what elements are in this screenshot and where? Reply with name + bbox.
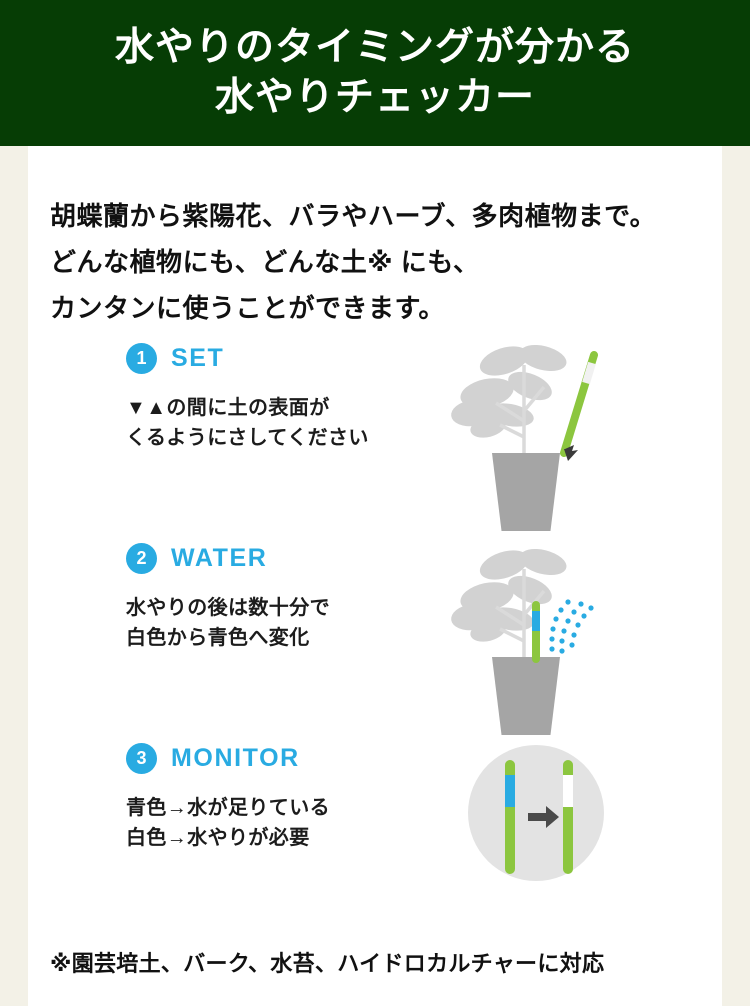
header-banner: 水やりのタイミングが分かる 水やりチェッカー <box>0 0 750 146</box>
plant-leaves-icon <box>449 341 569 441</box>
header-title-line-1: 水やりのタイミングが分かる <box>115 23 635 73</box>
step-2-desc-line-1: 水やりの後は数十分で <box>126 593 426 623</box>
step-2-number-badge: 2 <box>126 543 157 574</box>
step-2-heading: 2 WATER <box>126 541 426 575</box>
step-1-heading: 1 SET <box>126 341 426 375</box>
content-card: 胡蝶蘭から紫陽花、バラやハーブ、多肉植物まで。 どんな植物にも、どんな土※ にも… <box>28 146 722 1006</box>
step-3-number-badge: 3 <box>126 743 157 774</box>
header-title-line-2: 水やりチェッカー <box>215 73 535 123</box>
step-item-set: 1 SET ▼▲の間に土の表面が くるようにさしてください <box>28 341 722 541</box>
steps-list: 1 SET ▼▲の間に土の表面が くるようにさしてください <box>28 341 722 941</box>
step-2-label: WATER <box>171 544 267 573</box>
step-3-label: MONITOR <box>171 744 300 773</box>
step-1-desc-line-1: ▼▲の間に土の表面が <box>126 393 426 423</box>
step-item-water: 2 WATER 水やりの後は数十分で 白色から青色へ変化 <box>28 541 722 741</box>
step-2-desc-line-2: 白色から青色へ変化 <box>126 623 426 653</box>
footnote-text: ※園芸培土、バーク、水苔、ハイドロカルチャーに対応 <box>50 946 604 978</box>
watering-spray-icon <box>549 599 593 653</box>
flower-pot-icon <box>492 453 560 531</box>
step-3-desc-line-2: 白色→水やりが必要 <box>126 823 426 853</box>
step-3-illustration <box>448 741 628 941</box>
step-1-text: 1 SET ▼▲の間に土の表面が くるようにさしてください <box>126 341 426 453</box>
step-2-text: 2 WATER 水やりの後は数十分で 白色から青色へ変化 <box>126 541 426 653</box>
step-2-illustration <box>448 541 628 741</box>
step-1-desc-line-2: くるようにさしてください <box>126 423 426 453</box>
step-1-number-badge: 1 <box>126 343 157 374</box>
flower-pot-icon <box>492 657 560 735</box>
step-1-illustration <box>448 341 628 541</box>
step-3-heading: 3 MONITOR <box>126 741 426 775</box>
intro-paragraph: 胡蝶蘭から紫陽花、バラやハーブ、多肉植物まで。 どんな植物にも、どんな土※ にも… <box>50 193 710 331</box>
water-checker-stick-icon <box>564 355 594 453</box>
intro-line-1: 胡蝶蘭から紫陽花、バラやハーブ、多肉植物まで。 <box>50 193 710 239</box>
intro-line-3: カンタンに使うことができます。 <box>50 285 710 331</box>
intro-line-2: どんな植物にも、どんな土※ にも、 <box>50 239 710 285</box>
step-1-label: SET <box>171 344 224 373</box>
step-item-monitor: 3 MONITOR 青色→水が足りている 白色→水やりが必要 <box>28 741 722 941</box>
step-3-text: 3 MONITOR 青色→水が足りている 白色→水やりが必要 <box>126 741 426 853</box>
step-3-desc-line-1: 青色→水が足りている <box>126 793 426 823</box>
